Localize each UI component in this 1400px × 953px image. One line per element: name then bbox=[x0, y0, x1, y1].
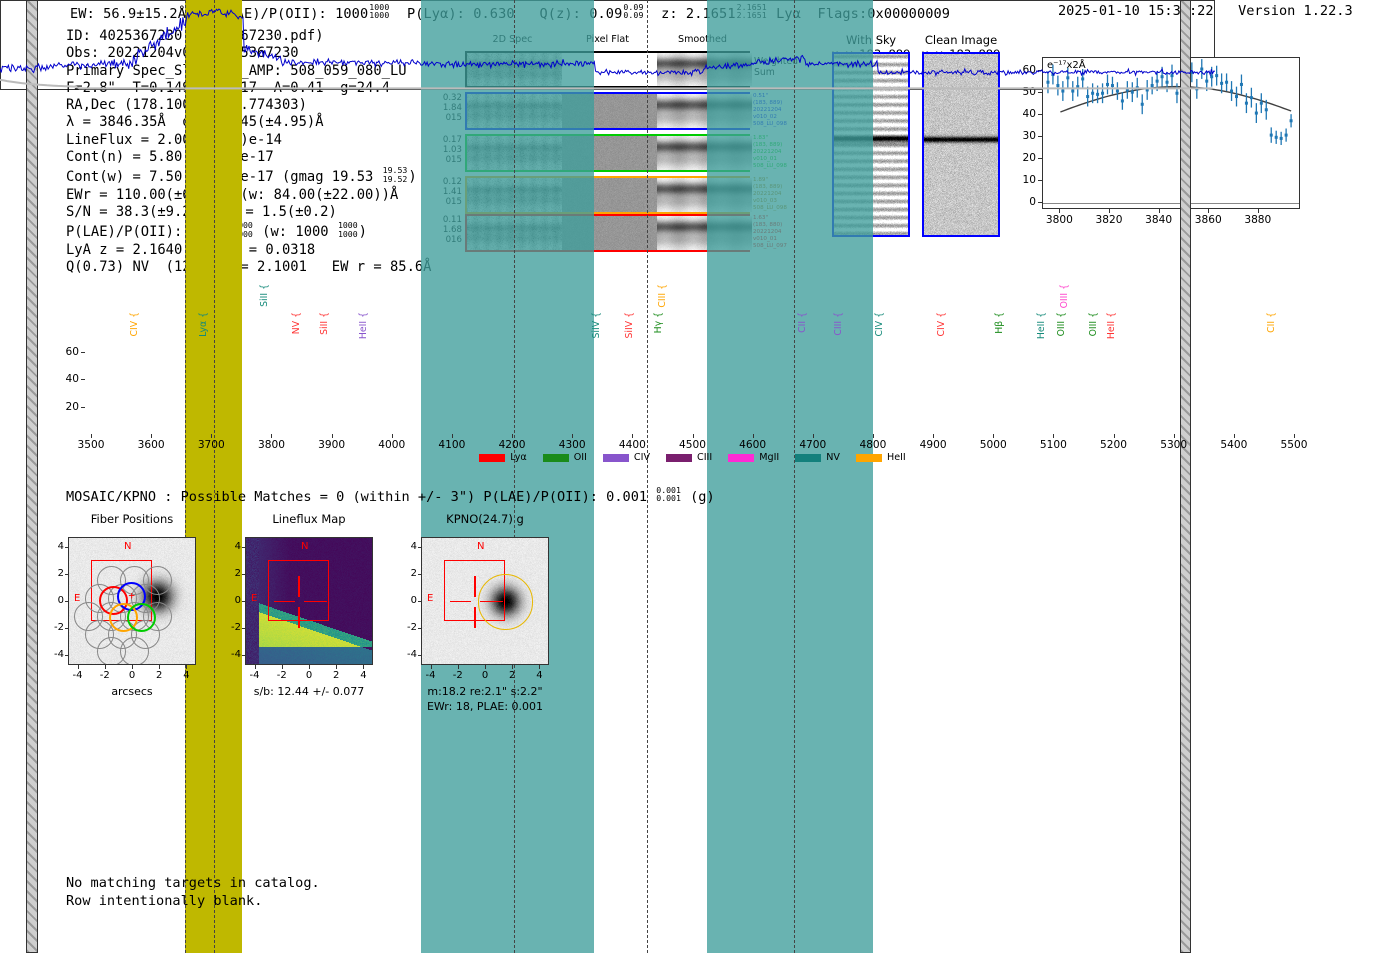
legend-item-Lyα: Lyα bbox=[479, 452, 526, 463]
panel-1-ytick bbox=[242, 547, 246, 548]
spectrum-xtick bbox=[1114, 434, 1115, 438]
panel-2-ytick-label: -2 bbox=[399, 622, 417, 633]
profile-ytick-label: 30 bbox=[1010, 130, 1036, 142]
panel-1-ytick bbox=[242, 655, 246, 656]
spectrum-xtick bbox=[392, 434, 393, 438]
legend-swatch-CIII bbox=[666, 454, 692, 462]
panel-1-xtick bbox=[255, 665, 256, 669]
panel-2-caption-1: m:18.2 re:2.1" s:2.2" bbox=[376, 685, 594, 698]
profile-xtick-label: 3860 bbox=[1195, 214, 1222, 226]
emission-line-label-SiII-4: SiII { bbox=[319, 312, 330, 335]
profile-ytick bbox=[1038, 180, 1042, 181]
profile-ytick bbox=[1038, 136, 1042, 137]
panel-2-xtick-label: 0 bbox=[477, 670, 493, 681]
spectrum-xtick bbox=[332, 434, 333, 438]
panel-1-image-frame[interactable]: NE bbox=[245, 537, 373, 665]
panel-2-ytick bbox=[418, 601, 422, 602]
emission-line-label-SiII-2: SiII { bbox=[259, 284, 270, 307]
panel-2-xtick bbox=[458, 665, 459, 669]
spectrum-xtick-label: 4900 bbox=[920, 439, 947, 451]
legend-label-CIII: CIII bbox=[697, 452, 712, 463]
spectrum-marker-2 bbox=[514, 0, 515, 953]
spectrum-xtick bbox=[993, 434, 994, 438]
panel-1-ytick-label: 4 bbox=[223, 541, 241, 552]
panel-1-ytick bbox=[242, 574, 246, 575]
panel-0-xtick-label: 4 bbox=[178, 670, 194, 681]
spectrum-xtick-label: 5400 bbox=[1220, 439, 1247, 451]
profile-ytick-label: 20 bbox=[1010, 152, 1036, 164]
spectrum-ytick bbox=[81, 352, 85, 353]
fiber-circle-11 bbox=[120, 637, 149, 665]
panel-2-xtick bbox=[539, 665, 540, 669]
profile-xtick bbox=[1258, 209, 1259, 213]
panel-1-xtick-label: 2 bbox=[328, 670, 344, 681]
legend-label-HeII: HeII bbox=[887, 452, 906, 463]
emission-line-label-CIV-12: CIV { bbox=[874, 312, 885, 336]
emission-line-label-Hβ-14: Hβ { bbox=[994, 312, 1005, 334]
target-marker: + bbox=[128, 592, 136, 600]
panel-0-ytick bbox=[65, 655, 69, 656]
legend-swatch-HeII bbox=[856, 454, 882, 462]
footer-line-2: Row intentionally blank. bbox=[66, 892, 320, 910]
emission-line-label-CIII-11: CIII { bbox=[833, 312, 844, 336]
spectrum-band-1 bbox=[421, 0, 594, 953]
profile-xtick-label: 3840 bbox=[1145, 214, 1172, 226]
legend-item-CIII: CIII bbox=[666, 452, 712, 463]
spectrum-xtick bbox=[271, 434, 272, 438]
spectrum-legend: LyαOIICIVCIIIMgIINVHeII bbox=[85, 452, 1300, 463]
spectrum-xtick bbox=[813, 434, 814, 438]
fiber-circle-highlight-#00cc00 bbox=[127, 603, 156, 632]
fiber-circle-14 bbox=[143, 566, 172, 595]
panel-0-ytick-label: 4 bbox=[46, 541, 64, 552]
panel-2-caption-2: EWr: 18, PLAE: 0.001 bbox=[376, 700, 594, 713]
spectrum-xtick bbox=[933, 434, 934, 438]
emission-line-label-OIII-16: OIII { bbox=[1059, 284, 1070, 308]
emission-line-label-CIV-13: CIV { bbox=[936, 312, 947, 336]
panel-2-image-frame[interactable]: NE bbox=[421, 537, 549, 665]
panel-2-xtick-label: -4 bbox=[423, 670, 439, 681]
panel-1-xtick bbox=[282, 665, 283, 669]
spectrum-xtick bbox=[753, 434, 754, 438]
panel-2-ytick bbox=[418, 655, 422, 656]
emission-line-label-HeII-19: HeII { bbox=[1106, 312, 1117, 339]
panel-1-xtick bbox=[309, 665, 310, 669]
legend-item-NV: NV bbox=[795, 452, 840, 463]
spectrum-xtick-label: 4600 bbox=[739, 439, 766, 451]
panel-2-xtick-label: 2 bbox=[504, 670, 520, 681]
spectrum-marker-0 bbox=[185, 0, 186, 953]
panel-0-ytick bbox=[65, 547, 69, 548]
legend-label-CIV: CIV bbox=[634, 452, 650, 463]
panel-1-ytick-label: -4 bbox=[223, 649, 241, 660]
panel-2-xtick-label: -2 bbox=[450, 670, 466, 681]
profile-ytick bbox=[1038, 158, 1042, 159]
spectrum-trace bbox=[0, 0, 1215, 90]
spectrum-xtick-label: 4500 bbox=[679, 439, 706, 451]
panel-1-xtick-label: -2 bbox=[274, 670, 290, 681]
spectrum-ytick-label: 20 bbox=[53, 401, 79, 413]
spectrum-xtick-label: 5300 bbox=[1160, 439, 1187, 451]
spectrum-xtick bbox=[1234, 434, 1235, 438]
spectrum-xtick bbox=[693, 434, 694, 438]
spectrum-xtick bbox=[211, 434, 212, 438]
profile-xtick bbox=[1059, 209, 1060, 213]
panel-2-ytick bbox=[418, 547, 422, 548]
footer-message: No matching targets in catalog. Row inte… bbox=[66, 874, 320, 910]
panel-0-xtick bbox=[132, 665, 133, 669]
panel-1-crosshair bbox=[246, 538, 372, 664]
panel-1-ytick-label: 0 bbox=[223, 595, 241, 606]
panel-0-compass-e: E bbox=[74, 593, 80, 604]
spectrum-plot-area[interactable]: e⁻¹⁷x2Å bbox=[0, 0, 1215, 90]
spectrum-xtick bbox=[1053, 434, 1054, 438]
spectrum-ytick-label: 40 bbox=[53, 373, 79, 385]
legend-item-OII: OII bbox=[543, 452, 587, 463]
spectrum-marker-1 bbox=[214, 0, 215, 953]
panel-1-ytick bbox=[242, 601, 246, 602]
emission-line-label-CII-20: CII { bbox=[1266, 312, 1277, 333]
panel-0-xtick-label: -4 bbox=[70, 670, 86, 681]
panel-0-xtick-label: 0 bbox=[124, 670, 140, 681]
emission-line-label-Lyα-1: Lyα { bbox=[198, 312, 209, 337]
legend-item-HeII: HeII bbox=[856, 452, 906, 463]
legend-swatch-CIV bbox=[603, 454, 629, 462]
spectrum-xtick bbox=[91, 434, 92, 438]
legend-label-OII: OII bbox=[574, 452, 587, 463]
aperture-circle bbox=[478, 574, 533, 629]
spectrum-xtick-label: 4800 bbox=[859, 439, 886, 451]
spectrum-band-2 bbox=[707, 0, 873, 953]
spectrum-xtick-label: 5500 bbox=[1281, 439, 1308, 451]
panel-0-xtick bbox=[105, 665, 106, 669]
spectrum-marker-3 bbox=[647, 0, 648, 953]
profile-xtick-label: 3820 bbox=[1095, 214, 1122, 226]
panel-0-xtick-label: -2 bbox=[97, 670, 113, 681]
spectrum-xtick bbox=[1294, 434, 1295, 438]
panel-1-xtick-label: 4 bbox=[355, 670, 371, 681]
legend-swatch-NV bbox=[795, 454, 821, 462]
spectrum-masked-region-0 bbox=[26, 0, 38, 953]
spectrum-xtick bbox=[512, 434, 513, 438]
emission-line-label-OIII-17: OIII { bbox=[1056, 312, 1067, 336]
spectrum-xtick-label: 3500 bbox=[78, 439, 105, 451]
spectrum-ytick-label: 60 bbox=[53, 346, 79, 358]
panel-1-xtick bbox=[363, 665, 364, 669]
spectrum-xtick bbox=[452, 434, 453, 438]
panel-2-title: KPNO(24.7) g bbox=[381, 512, 589, 526]
panel-0-ytick-label: 2 bbox=[46, 568, 64, 579]
spectrum-masked-region-1 bbox=[1180, 0, 1191, 953]
profile-ytick-label: 0 bbox=[1010, 196, 1036, 208]
spectrum-xtick bbox=[632, 434, 633, 438]
panel-2-ytick-label: 4 bbox=[399, 541, 417, 552]
profile-xtick bbox=[1208, 209, 1209, 213]
panel-1-ytick-label: -2 bbox=[223, 622, 241, 633]
panel-2-ytick-label: 0 bbox=[399, 595, 417, 606]
fiber-circle-13 bbox=[74, 602, 103, 631]
panel-0-ytick-label: -4 bbox=[46, 649, 64, 660]
legend-item-CIV: CIV bbox=[603, 452, 650, 463]
emission-line-label-HeII-5: HeII { bbox=[358, 312, 369, 339]
spectrum-xtick-label: 5100 bbox=[1040, 439, 1067, 451]
panel-1-xtick bbox=[336, 665, 337, 669]
imaging-panels-section: Fiber PositionsNE+-4-4-2-2002244arcsecsL… bbox=[0, 500, 1400, 760]
spectrum-xtick-label: 4100 bbox=[438, 439, 465, 451]
emission-line-label-CIV-0: CIV { bbox=[129, 312, 140, 336]
panel-1-xtick-label: -4 bbox=[247, 670, 263, 681]
profile-ytick-label: 10 bbox=[1010, 174, 1036, 186]
spectrum-xtick-label: 3900 bbox=[318, 439, 345, 451]
spectrum-xtick bbox=[572, 434, 573, 438]
panel-0-ytick-label: 0 bbox=[46, 595, 64, 606]
legend-swatch-OII bbox=[543, 454, 569, 462]
spectrum-xtick bbox=[151, 434, 152, 438]
panel-2-xtick-label: 4 bbox=[531, 670, 547, 681]
panel-0-xtick bbox=[186, 665, 187, 669]
legend-label-NV: NV bbox=[826, 452, 840, 463]
panel-1-ytick bbox=[242, 628, 246, 629]
profile-ytick bbox=[1038, 92, 1042, 93]
panel-0-image-frame[interactable]: NE+ bbox=[68, 537, 196, 665]
panel-2-ytick-label: 2 bbox=[399, 568, 417, 579]
profile-ytick-label: 40 bbox=[1010, 108, 1036, 120]
emission-line-label-OIII-18: OIII { bbox=[1088, 312, 1099, 336]
panel-0-xtick bbox=[78, 665, 79, 669]
spectrum-xtick-label: 4400 bbox=[619, 439, 646, 451]
panel-0-xtick bbox=[159, 665, 160, 669]
emission-line-label-CII-10: CII { bbox=[797, 312, 808, 333]
spectrum-xtick-label: 5200 bbox=[1100, 439, 1127, 451]
profile-xtick bbox=[1109, 209, 1110, 213]
emission-line-label-NV-3: NV { bbox=[291, 312, 302, 334]
spectrum-xtick-label: 3800 bbox=[258, 439, 285, 451]
spectrum-ytick bbox=[81, 379, 85, 380]
panel-1-ytick-label: 2 bbox=[223, 568, 241, 579]
emission-line-label-Hγ-9: Hγ { bbox=[653, 312, 664, 333]
legend-swatch-Lyα bbox=[479, 454, 505, 462]
spectrum-marker-4 bbox=[794, 0, 795, 953]
spectrum-xtick-label: 4000 bbox=[378, 439, 405, 451]
emission-line-label-HeII-15: HeII { bbox=[1036, 312, 1047, 339]
emission-line-label-SiIV-6: SiIV { bbox=[591, 312, 602, 338]
footer-line-1: No matching targets in catalog. bbox=[66, 874, 320, 892]
panel-2-ytick bbox=[418, 628, 422, 629]
panel-0-ytick bbox=[65, 574, 69, 575]
spectrum-xtick-label: 4200 bbox=[499, 439, 526, 451]
panel-2-xtick bbox=[512, 665, 513, 669]
emission-line-label-CIII-8: CIII { bbox=[657, 284, 668, 308]
panel-2-xtick bbox=[431, 665, 432, 669]
profile-xtick bbox=[1159, 209, 1160, 213]
panel-0-compass-n: N bbox=[124, 541, 131, 552]
spectrum-xtick-label: 3700 bbox=[198, 439, 225, 451]
legend-item-MgII: MgII bbox=[728, 452, 779, 463]
profile-ytick bbox=[1038, 202, 1042, 203]
spectrum-xtick-label: 4300 bbox=[559, 439, 586, 451]
spectrum-xtick-label: 4700 bbox=[799, 439, 826, 451]
panel-2-xtick bbox=[485, 665, 486, 669]
panel-0-xtick-label: 2 bbox=[151, 670, 167, 681]
spectrum-xtick-label: 3600 bbox=[138, 439, 165, 451]
spectrum-ytick bbox=[81, 407, 85, 408]
spectrum-xtick-label: 5000 bbox=[980, 439, 1007, 451]
profile-xtick-label: 3880 bbox=[1244, 214, 1271, 226]
panel-0-ytick-label: -2 bbox=[46, 622, 64, 633]
panel-0-ytick bbox=[65, 628, 69, 629]
profile-xtick-label: 3800 bbox=[1046, 214, 1073, 226]
emission-line-label-SiIV-7: SiIV { bbox=[624, 312, 635, 338]
panel-2-ytick-label: -4 bbox=[399, 649, 417, 660]
panel-2-ytick bbox=[418, 574, 422, 575]
spectrum-xtick bbox=[1174, 434, 1175, 438]
panel-1-xtick-label: 0 bbox=[301, 670, 317, 681]
panel-0-ytick bbox=[65, 601, 69, 602]
profile-ytick bbox=[1038, 114, 1042, 115]
spectrum-xtick bbox=[873, 434, 874, 438]
legend-label-Lyα: Lyα bbox=[510, 452, 526, 463]
legend-swatch-MgII bbox=[728, 454, 754, 462]
legend-label-MgII: MgII bbox=[759, 452, 779, 463]
